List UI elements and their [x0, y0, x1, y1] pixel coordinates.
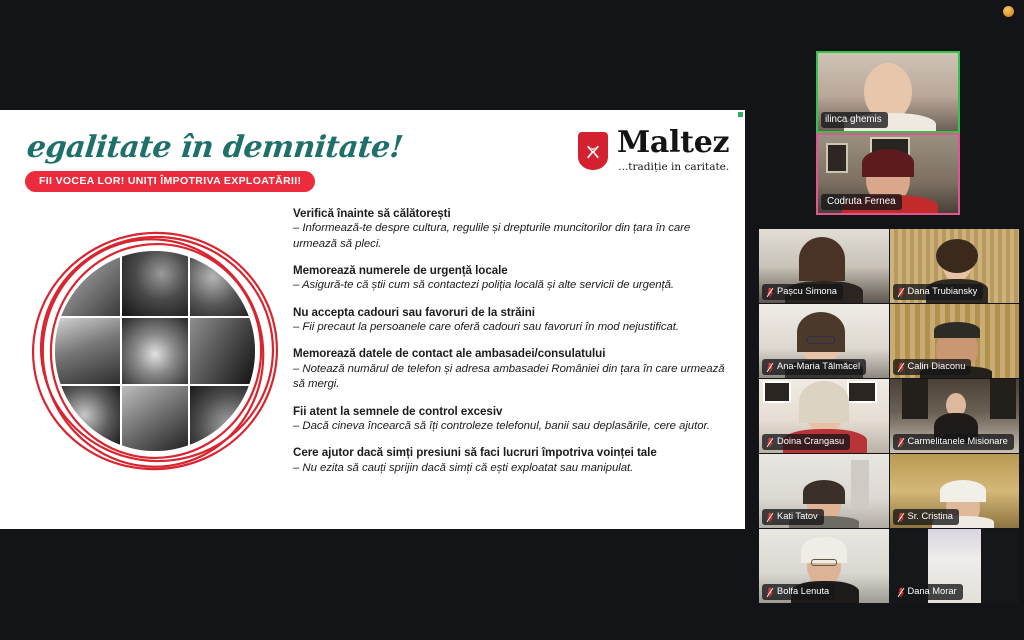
photo-collage	[42, 238, 268, 464]
collage-cell	[190, 251, 255, 316]
block-heading: Cere ajutor dacă simți presiuni să faci …	[293, 445, 733, 460]
participant-tile-ana-maria-talmacel[interactable]: Ana-Maria Tălmăcel	[759, 304, 889, 378]
grid-row: Pașcu Simona Dana Trubiansky	[759, 229, 1019, 303]
slide-text-blocks: Verifică înainte să călătorești – Inform…	[293, 206, 733, 476]
block-heading: Memorează datele de contact ale ambasade…	[293, 346, 733, 361]
participant-name: Carmelitanele Misionare	[908, 436, 1008, 448]
block-body: – Asigură-te că știi cum să contactezi p…	[293, 278, 733, 293]
mic-muted-icon	[766, 287, 774, 298]
block-body: – Notează numărul de telefon și adresa a…	[293, 362, 733, 393]
collage-cell	[55, 386, 120, 451]
collage-cell	[55, 251, 120, 316]
block-body: – Fii precaut la persoanele care oferă c…	[293, 320, 733, 335]
participant-name: Bolfa Lenuta	[777, 586, 829, 598]
share-corner-marker	[738, 112, 743, 117]
mic-muted-icon	[766, 437, 774, 448]
maltese-shield-icon	[578, 132, 608, 170]
participant-name: Kati Tatov	[777, 511, 818, 523]
mic-muted-icon	[897, 362, 905, 373]
participant-tile-sr-cristina[interactable]: Sr. Cristina	[890, 454, 1020, 528]
slide-block: Verifică înainte să călătorești – Inform…	[293, 206, 733, 252]
block-body: – Nu ezita să cauți sprijin dacă simți c…	[293, 461, 733, 476]
participant-name: ilinca ghemis	[825, 114, 882, 126]
participant-tile-pascu-simona[interactable]: Pașcu Simona	[759, 229, 889, 303]
participant-grid: Pașcu Simona Dana Trubiansky	[759, 229, 1019, 599]
grid-row: Bolfa Lenuta Dana Morar	[759, 529, 1019, 603]
name-badge: Dana Trubiansky	[893, 284, 984, 300]
featured-tiles: ilinca ghemis Codruta Fernea	[816, 51, 960, 215]
participant-tile-dana-morar[interactable]: Dana Morar	[890, 529, 1020, 603]
recording-indicator-dot	[1003, 6, 1014, 17]
participant-name: Calin Diaconu	[908, 361, 966, 373]
slide-block: Memorează datele de contact ale ambasade…	[293, 346, 733, 392]
mic-muted-icon	[897, 587, 905, 598]
collage-grid	[55, 251, 255, 451]
collage-cell	[122, 386, 187, 451]
collage-cell	[122, 318, 187, 383]
participant-tile-ilinca-ghemis[interactable]: ilinca ghemis	[816, 51, 960, 133]
collage-cell	[55, 318, 120, 383]
mic-muted-icon	[766, 362, 774, 373]
name-badge: Pașcu Simona	[762, 284, 843, 300]
name-badge: ilinca ghemis	[821, 112, 888, 128]
slide-banner: FII VOCEA LOR! UNIȚI ÎMPOTRIVA EXPLOATĂR…	[25, 171, 315, 192]
grid-row: Ana-Maria Tălmăcel Calin Diaconu	[759, 304, 1019, 378]
logo-tagline: ...tradiție in caritate.	[617, 161, 729, 173]
participant-name: Codruta Fernea	[827, 196, 896, 208]
participant-tile-dana-trubiansky[interactable]: Dana Trubiansky	[890, 229, 1020, 303]
name-badge: Bolfa Lenuta	[762, 584, 835, 600]
participant-name: Pașcu Simona	[777, 286, 837, 298]
block-heading: Memorează numerele de urgență locale	[293, 263, 733, 278]
slide-block: Memorează numerele de urgență locale – A…	[293, 263, 733, 294]
block-body: – Dacă cineva încearcă să îți controleze…	[293, 419, 733, 434]
shared-screen-slide[interactable]: egalitate în demnitate! FII VOCEA LOR! U…	[0, 110, 745, 529]
name-badge: Ana-Maria Tălmăcel	[762, 359, 866, 375]
slide-block: Nu accepta cadouri sau favoruri de la st…	[293, 305, 733, 336]
grid-row: Kati Tatov Sr. Cristina	[759, 454, 1019, 528]
participant-tile-doina-crangasu[interactable]: Doina Crangasu	[759, 379, 889, 453]
mic-muted-icon	[766, 512, 774, 523]
meeting-window: egalitate în demnitate! FII VOCEA LOR! U…	[0, 0, 1024, 640]
participant-name: Ana-Maria Tălmăcel	[777, 361, 860, 373]
name-badge: Codruta Fernea	[821, 194, 902, 210]
participant-name: Doina Crangasu	[777, 436, 844, 448]
participant-name: Dana Trubiansky	[908, 286, 978, 298]
mic-muted-icon	[897, 512, 905, 523]
name-badge: Dana Morar	[893, 584, 963, 600]
maltez-logo: Maltez ...tradiție in caritate.	[578, 128, 729, 173]
participant-tile-carmelitanele-misionare[interactable]: Carmelitanele Misionare	[890, 379, 1020, 453]
participant-name: Dana Morar	[908, 586, 957, 598]
collage-cell	[190, 386, 255, 451]
participant-tile-bolfa-lenuta[interactable]: Bolfa Lenuta	[759, 529, 889, 603]
name-badge: Calin Diaconu	[893, 359, 972, 375]
block-body: – Informează-te despre cultura, regulile…	[293, 221, 733, 252]
mic-muted-icon	[897, 287, 905, 298]
grid-row: Doina Crangasu Carmelitanele Mision	[759, 379, 1019, 453]
logo-wordmark: Maltez	[617, 128, 729, 158]
participant-tile-kati-tatov[interactable]: Kati Tatov	[759, 454, 889, 528]
mic-muted-icon	[766, 587, 774, 598]
block-heading: Nu accepta cadouri sau favoruri de la st…	[293, 305, 733, 320]
block-heading: Verifică înainte să călătorești	[293, 206, 733, 221]
slide-block: Cere ajutor dacă simți presiuni să faci …	[293, 445, 733, 476]
collage-cell	[122, 251, 187, 316]
name-badge: Kati Tatov	[762, 509, 824, 525]
slide-headline: egalitate în demnitate!	[25, 130, 404, 165]
name-badge: Sr. Cristina	[893, 509, 959, 525]
collage-cell	[190, 318, 255, 383]
slide-block: Fii atent la semnele de control excesiv …	[293, 404, 733, 435]
participant-tile-codruta-fernea[interactable]: Codruta Fernea	[816, 133, 960, 215]
name-badge: Doina Crangasu	[762, 434, 850, 450]
mic-muted-icon	[897, 437, 905, 448]
name-badge: Carmelitanele Misionare	[893, 434, 1014, 450]
participant-tile-calin-diaconu[interactable]: Calin Diaconu	[890, 304, 1020, 378]
participant-name: Sr. Cristina	[908, 511, 953, 523]
block-heading: Fii atent la semnele de control excesiv	[293, 404, 733, 419]
